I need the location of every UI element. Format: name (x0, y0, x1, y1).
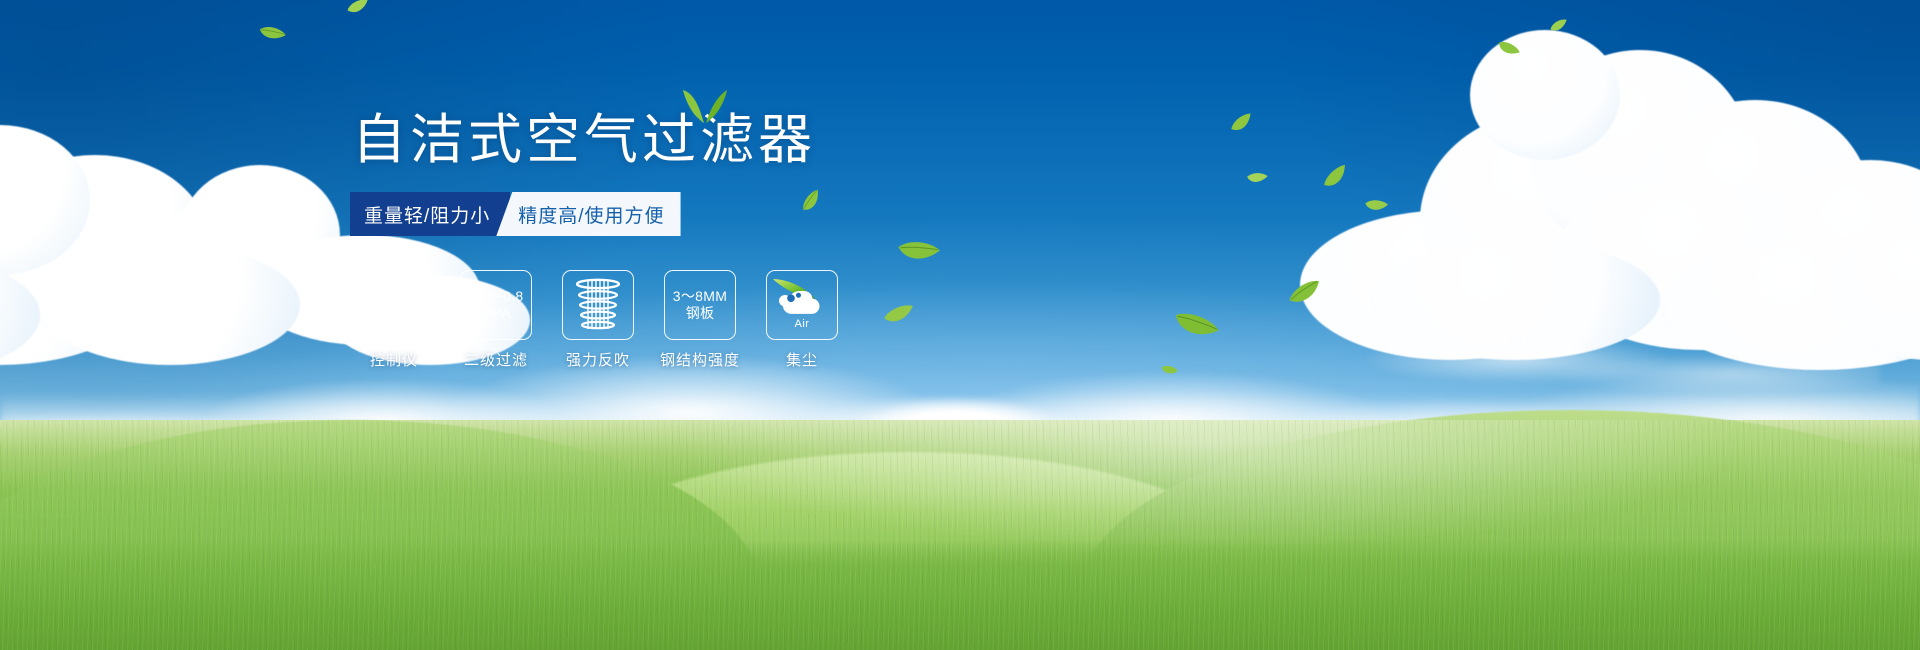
feature-two-stage-filter: 0.6～0.8 MPA 二级过滤 (460, 270, 532, 370)
steel-plate-label: 钢板 (686, 305, 715, 323)
feature-dust-collection: Air 集尘 (766, 270, 838, 370)
air-label: Air (795, 318, 810, 330)
feature-box: 0.6～0.8 MPA (460, 270, 532, 340)
feature-box: NO OFF (358, 270, 430, 340)
feature-reverse-blow: 强力反吹 (562, 270, 634, 370)
badge-precision-convenience: 精度高/使用方便 (496, 192, 680, 236)
feature-box (562, 270, 634, 340)
badge-weight-resistance: 重量轻/阻力小 (350, 192, 510, 236)
feature-steel-strength: 3～8MM 钢板 钢结构强度 (664, 270, 736, 370)
feature-box: Air (766, 270, 838, 340)
pressure-unit: MPA (481, 305, 511, 323)
leaf-icon (682, 90, 728, 129)
feature-caption: 二级过滤 (464, 349, 528, 370)
feature-row: NO OFF 控制仪 0.6～0.8 MPA 二级过滤 (358, 270, 838, 370)
cloud-air-icon: Air (771, 277, 833, 333)
feature-box: 3～8MM 钢板 (664, 270, 736, 340)
hero-banner: 自洁式空气过滤器 重量轻/阻力小 精度高/使用方便 (0, 0, 1920, 650)
feature-caption: 控制仪 (370, 349, 418, 370)
control-dial-icon: NO OFF (363, 276, 425, 334)
banner-content: 自洁式空气过滤器 重量轻/阻力小 精度高/使用方便 (0, 0, 1920, 650)
feature-caption: 集尘 (786, 349, 818, 370)
filter-coil-icon (573, 277, 623, 333)
dial-off-label: OFF (409, 327, 422, 333)
feature-controller: NO OFF 控制仪 (358, 270, 430, 370)
title-block: 自洁式空气过滤器 (352, 112, 816, 169)
badge-row: 重量轻/阻力小 精度高/使用方便 (350, 192, 681, 236)
page-title: 自洁式空气过滤器 (352, 112, 816, 169)
steel-plate-text-icon: 3～8MM (673, 288, 727, 306)
feature-caption: 强力反吹 (566, 349, 630, 370)
feature-caption: 钢结构强度 (660, 349, 740, 370)
pressure-text-icon: 0.6～0.8 (468, 288, 523, 306)
dial-on-label: NO (364, 311, 374, 317)
